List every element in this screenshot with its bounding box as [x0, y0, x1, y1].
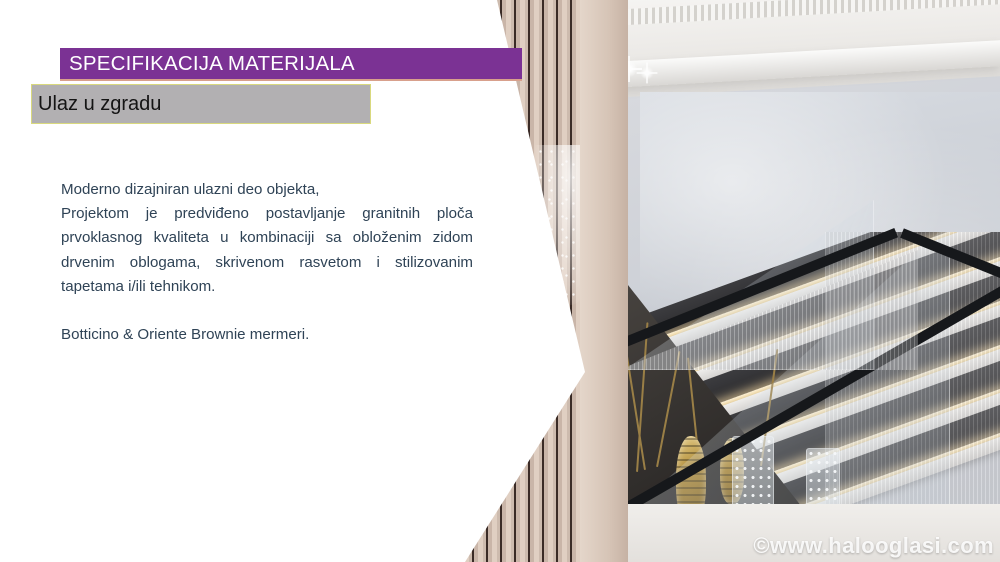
wood-slat-wall-edge [580, 0, 628, 562]
photo-interior-room [610, 0, 1000, 562]
section-title-bar: SPECIFIKACIJA MATERIJALA [60, 48, 522, 81]
site-watermark: ©www.halooglasi.com [753, 533, 994, 559]
paragraph-gap [61, 299, 473, 323]
section-subtitle-bar: Ulaz u zgradu [31, 84, 371, 124]
body-text-block: Moderno dizajniran ulazni deo objekta, P… [61, 178, 473, 347]
entrance-photo [430, 0, 1000, 562]
body-line-3: Botticino & Oriente Brownie mermeri. [61, 323, 473, 347]
page-subtitle: Ulaz u zgradu [32, 93, 161, 116]
body-line-1: Moderno dizajniran ulazni deo objekta, [61, 178, 473, 202]
body-line-2: Projektom je predviđeno postavljanje gra… [61, 202, 473, 299]
page-title: SPECIFIKACIJA MATERIJALA [60, 52, 355, 76]
light-sparkle-icon [637, 63, 658, 84]
slide-canvas: SPECIFIKACIJA MATERIJALA Ulaz u zgradu M… [0, 0, 1000, 562]
